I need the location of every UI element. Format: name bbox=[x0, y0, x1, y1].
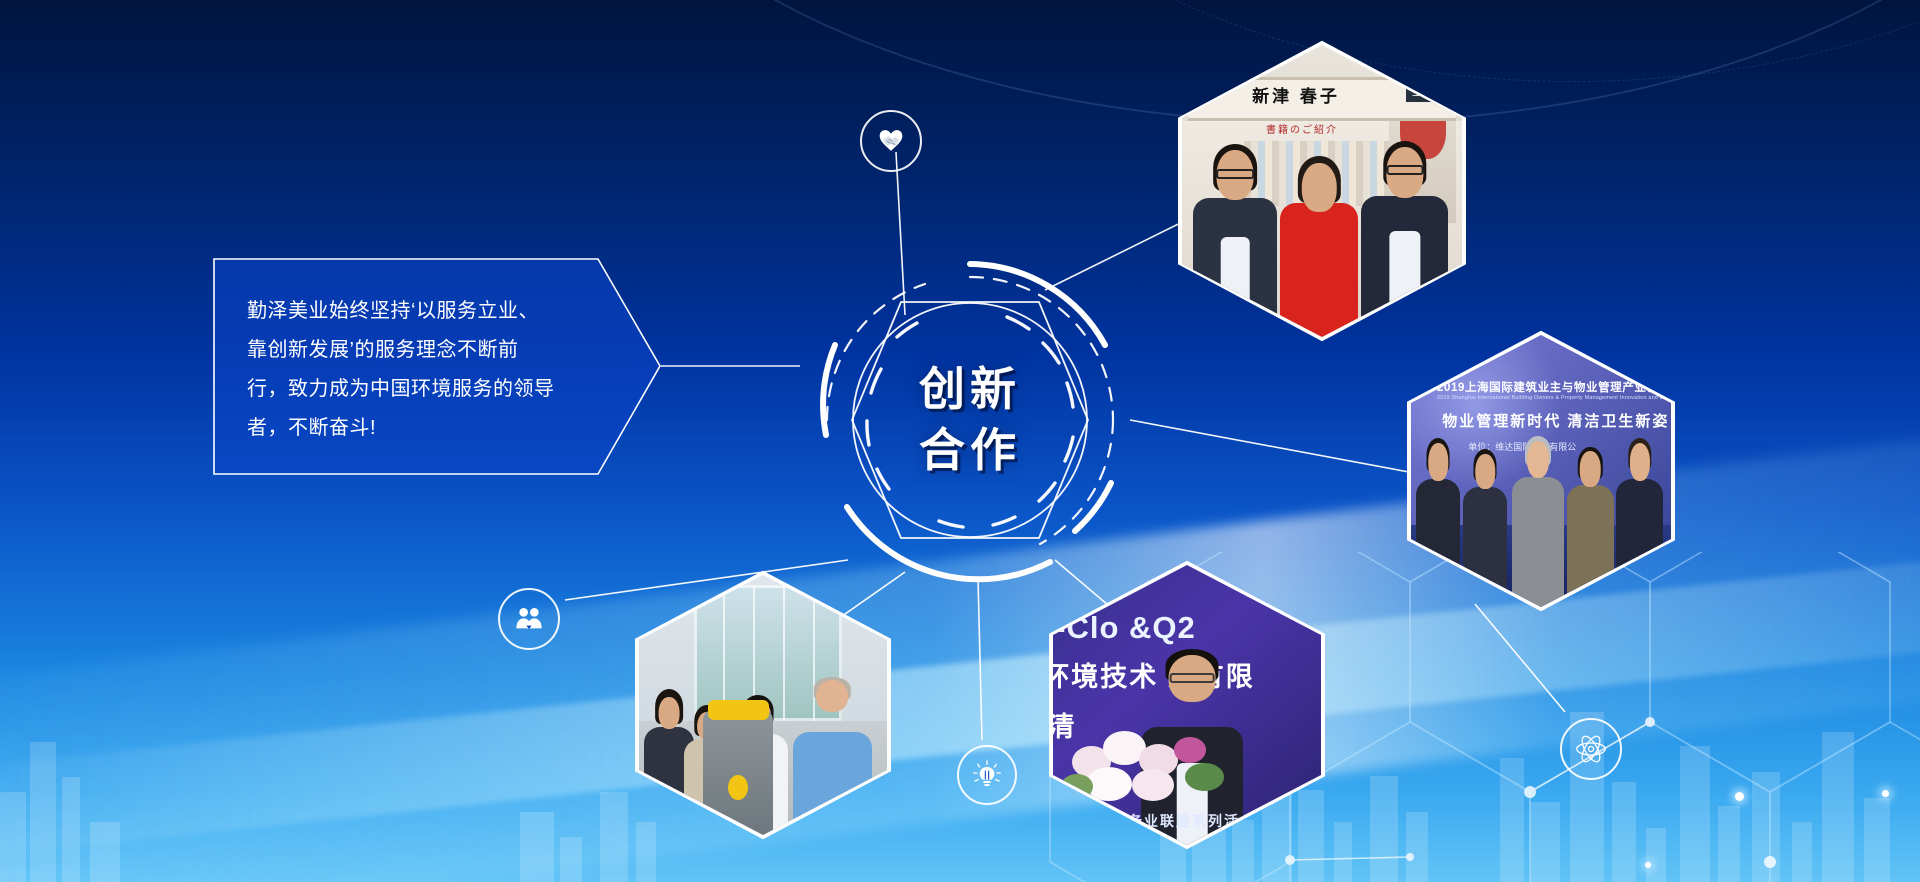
center-hub[interactable]: 创新 合作 bbox=[805, 255, 1135, 585]
photo-bookstore-trio[interactable]: 新津 春子 全仕事 書籍のご紹介 bbox=[1177, 40, 1467, 342]
mission-line-3: 行，致力成为中国环境服务的领导 bbox=[247, 370, 591, 409]
hub-title: 创新 合作 bbox=[805, 255, 1135, 585]
photo-scrubber-training[interactable] bbox=[634, 570, 892, 840]
people-icon bbox=[513, 603, 545, 635]
bookstore-banner-title: 新津 春子 bbox=[1252, 82, 1340, 107]
handshake-heart-icon-node[interactable] bbox=[860, 110, 922, 172]
lightbulb-icon bbox=[971, 759, 1003, 791]
glow-dot-2 bbox=[1882, 790, 1889, 797]
person-3 bbox=[1512, 436, 1564, 607]
conference-backdrop-slogan: 物业管理新时代 清洁卫生新姿 bbox=[1442, 410, 1669, 431]
atom-icon-node[interactable] bbox=[1560, 718, 1622, 780]
mission-line-1: 勤泽美业始终坚持‘以服务立业、 bbox=[247, 292, 591, 331]
people-icon-node[interactable] bbox=[498, 588, 560, 650]
bookstore-banner-sub: 書籍のご紹介 bbox=[1266, 121, 1338, 136]
mission-statement-text: 勤泽美业始终坚持‘以服务立业、 靠创新发展’的服务理念不断前 行，致力成为中国环… bbox=[247, 292, 591, 448]
glow-dot-1 bbox=[1735, 792, 1744, 801]
person-center bbox=[1280, 156, 1358, 337]
mission-line-2: 靠创新发展’的服务理念不断前 bbox=[247, 331, 591, 370]
conference-backdrop-title-en: 2019 Shanghai International Building Own… bbox=[1437, 395, 1671, 401]
hub-title-line1: 创新 bbox=[919, 359, 1021, 420]
photo-conference-group[interactable]: 2019上海国际建筑业主与物业管理产业创新发 2019 Shanghai Int… bbox=[1406, 330, 1676, 612]
glow-dot-3 bbox=[1645, 862, 1651, 868]
photo-keynote-speaker[interactable]: e-Clo &Q2 环境技术 务有限 清 bbox=[1048, 560, 1326, 850]
lightbulb-icon-node[interactable] bbox=[957, 745, 1017, 805]
handshake-heart-icon bbox=[874, 124, 908, 158]
mission-statement-box: 勤泽美业始终坚持‘以服务立业、 靠创新发展’的服务理念不断前 行，致力成为中国环… bbox=[213, 258, 661, 475]
atom-icon bbox=[1573, 731, 1609, 767]
mission-line-4: 者，不断奋斗! bbox=[247, 409, 591, 448]
hub-title-line2: 合作 bbox=[919, 420, 1021, 481]
banner-root: 创新 合作 勤泽美业始终坚持‘以服务立业、 靠创新发展’的服务理念不断前 行，致… bbox=[0, 0, 1920, 882]
